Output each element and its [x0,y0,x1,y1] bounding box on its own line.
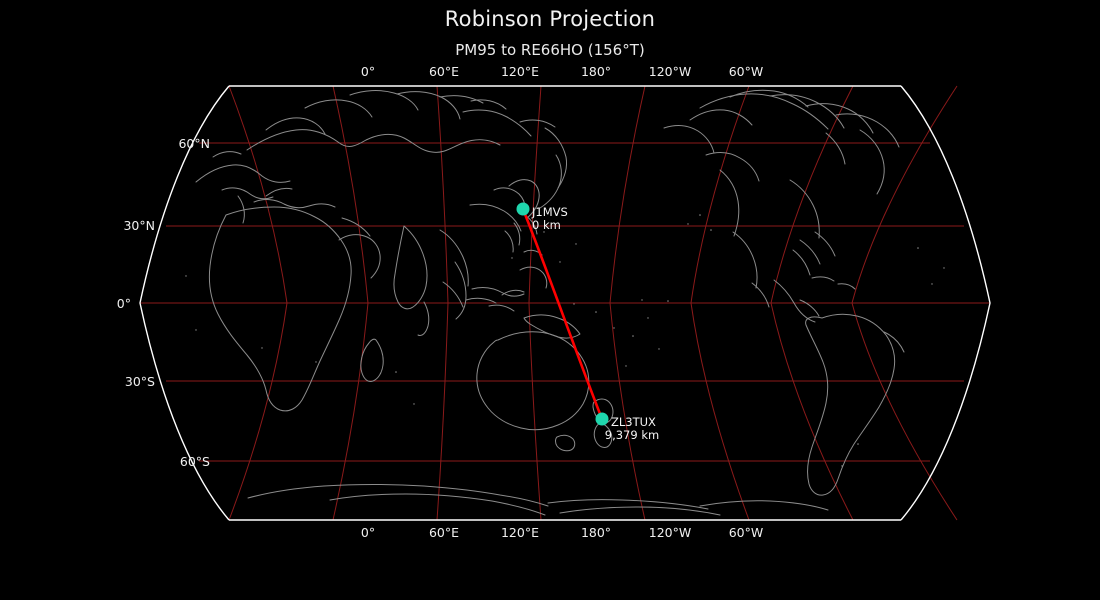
graticule-parallels [140,143,990,461]
lon-label-top: 120°W [649,64,691,79]
lon-label-bottom: 120°W [649,525,691,540]
station-marker-end[interactable]: ZL3TUX 9,379 km [596,413,660,443]
station-distance-label: 9,379 km [605,428,659,442]
station-callsign-label: ZL3TUX [611,415,656,429]
lon-label-bottom: 120°E [501,525,539,540]
marker-dot-icon[interactable] [596,413,609,426]
station-callsign-label: J1MVS [531,205,568,219]
lon-label-bottom: 60°E [429,525,459,540]
lon-label-bottom: 60°W [729,525,764,540]
lat-label: 60°N [178,136,210,151]
lon-labels-top: 0° 60°E 120°E 180° 120°W 60°W [361,64,763,79]
map-figure: Robinson Projection PM95 to RE66HO (156°… [0,0,1100,600]
great-circle-path [523,209,602,419]
lon-label-bottom: 180° [581,525,611,540]
lat-label: 0° [117,296,131,311]
lon-label-bottom: 0° [361,525,375,540]
lon-label-top: 0° [361,64,375,79]
lon-label-top: 60°W [729,64,764,79]
lat-label: 30°N [123,218,155,233]
lat-label: 60°S [180,454,210,469]
lon-label-top: 180° [581,64,611,79]
lat-label: 30°S [125,374,155,389]
lon-labels-bottom: 0° 60°E 120°E 180° 120°W 60°W [361,525,763,540]
station-distance-label: 0 km [532,218,561,232]
lon-label-top: 120°E [501,64,539,79]
lon-label-top: 60°E [429,64,459,79]
marker-dot-icon[interactable] [517,203,530,216]
station-marker-start[interactable]: J1MVS 0 km [517,203,568,233]
robinson-map: 0° 60°E 120°E 180° 120°W 60°W 0° 60°E 12… [0,0,1100,600]
